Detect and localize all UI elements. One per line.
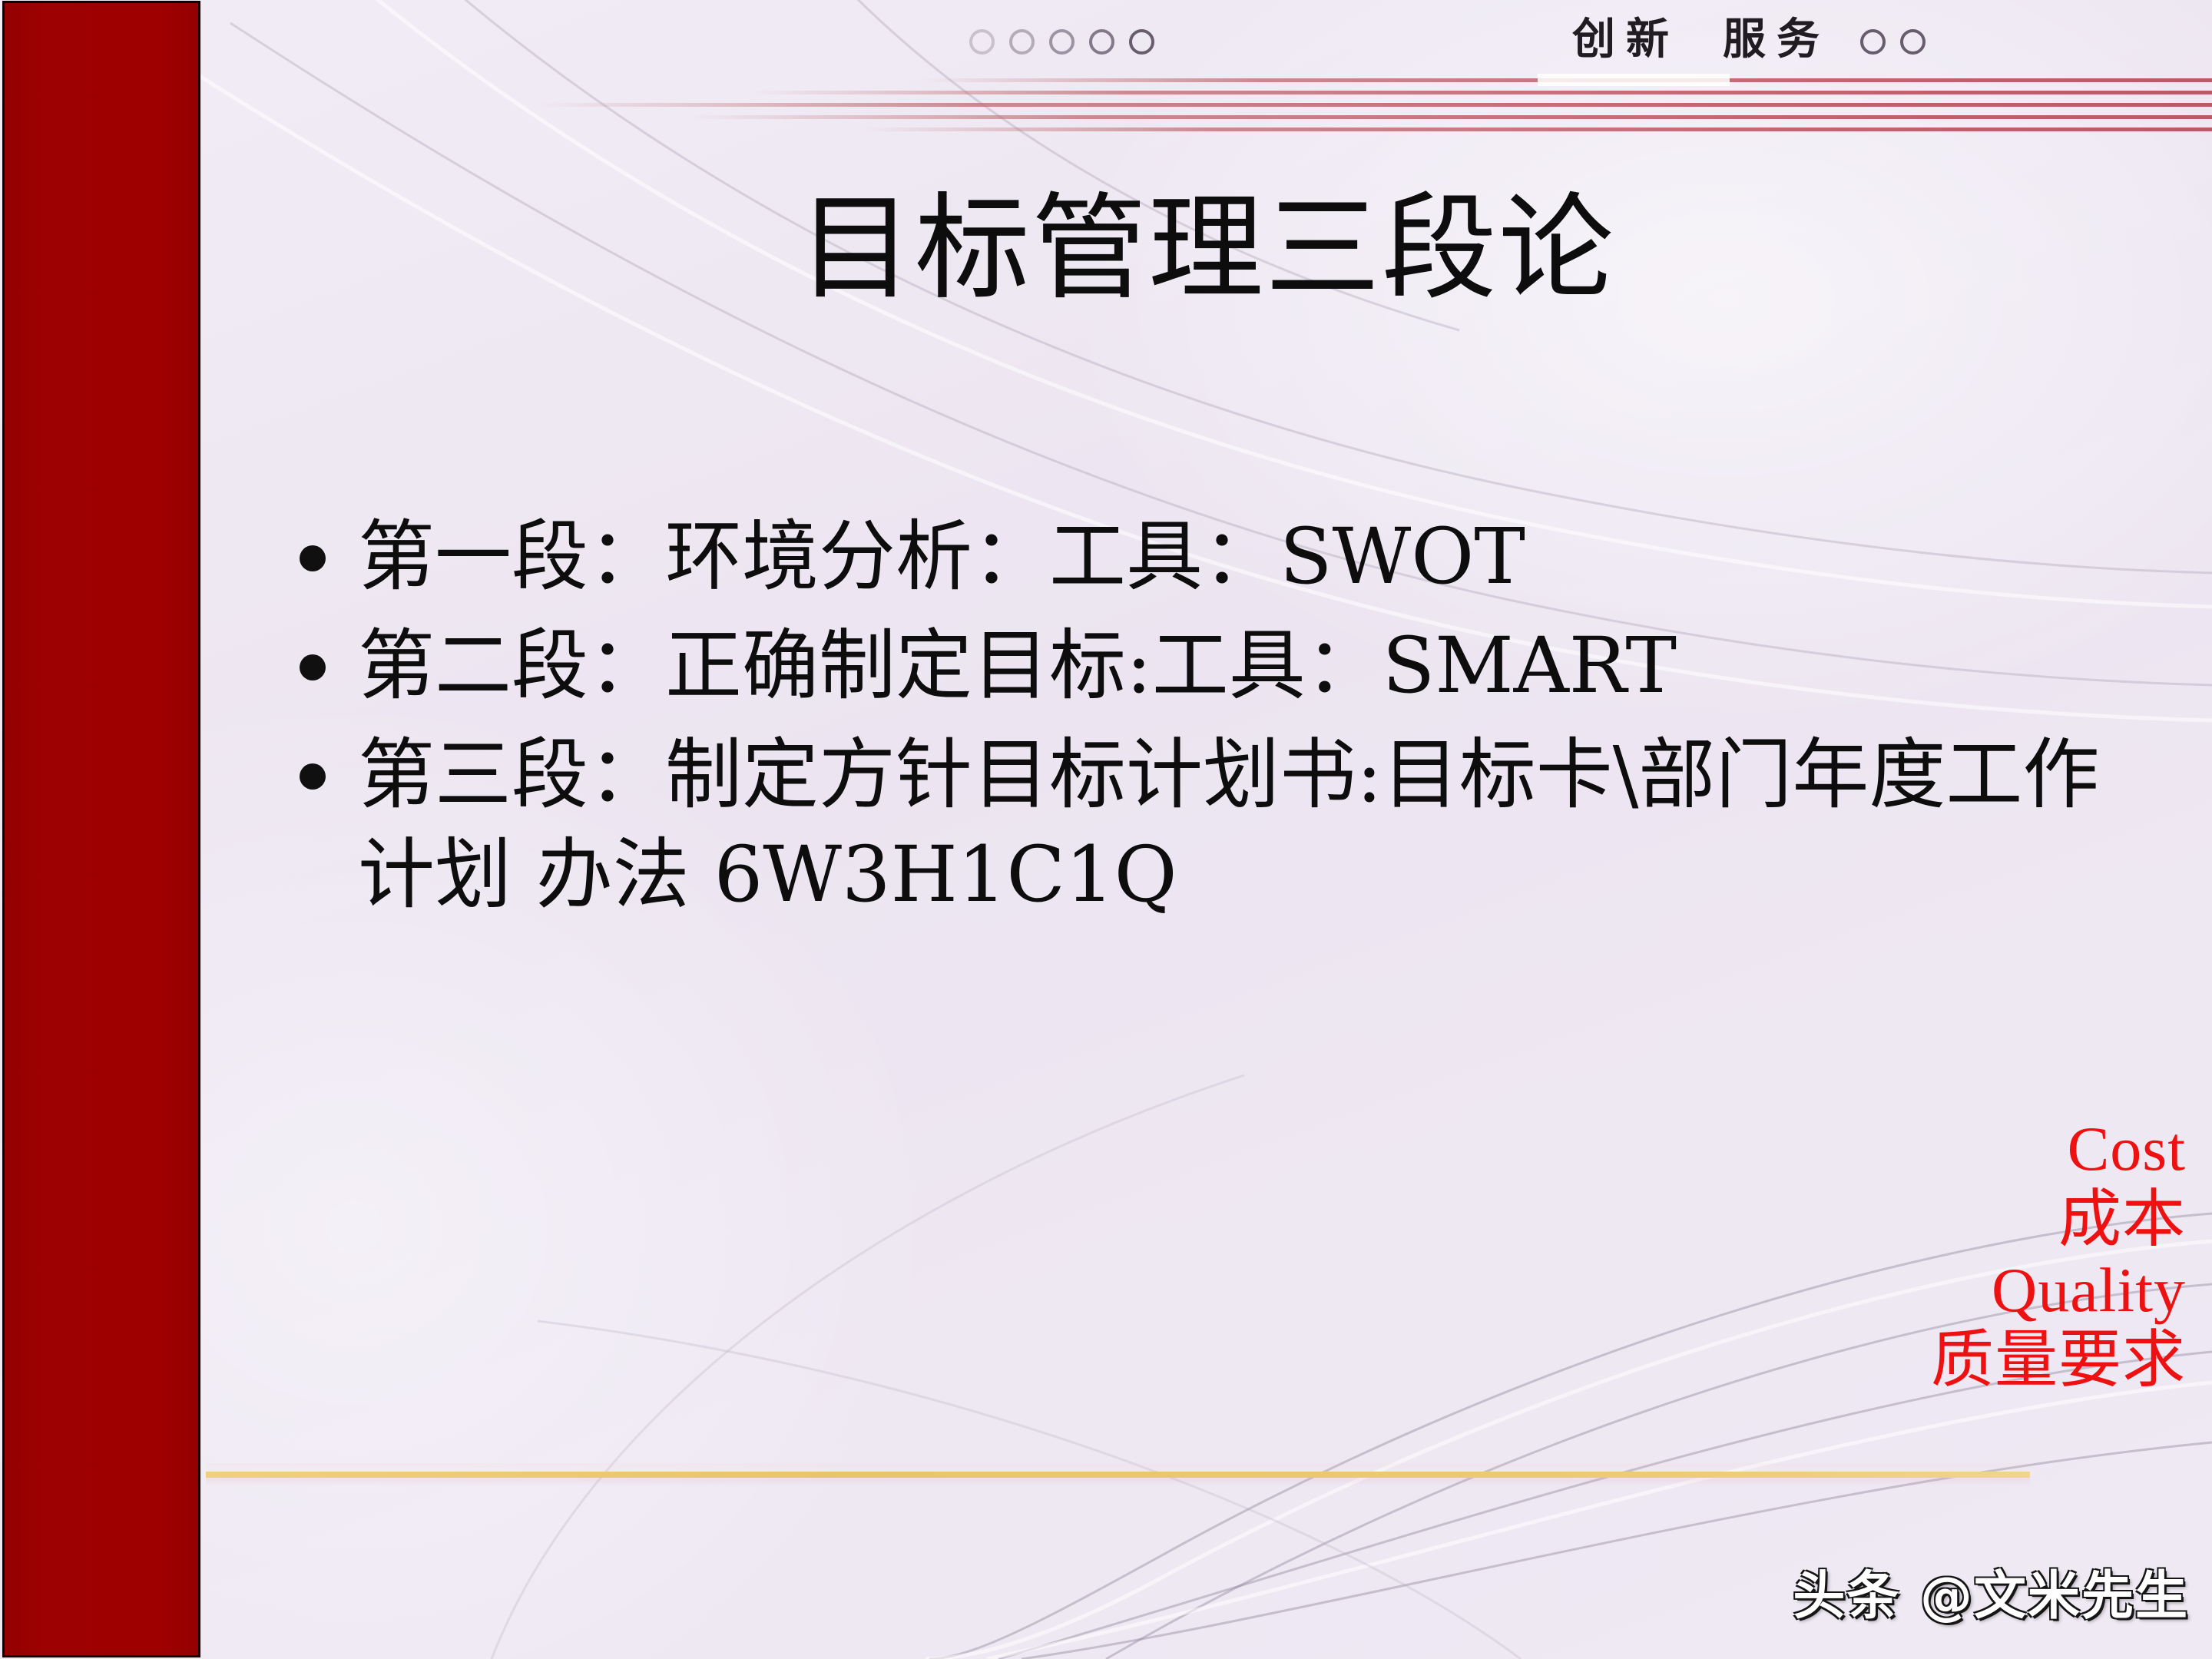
left-accent-bar: [2, 1, 200, 1657]
header-dots-left: [969, 29, 1154, 55]
callout-line-cost-cn: 成本: [1931, 1184, 2186, 1255]
header-dots-right: [1860, 29, 1926, 55]
header-brand-text: 创新 服务: [1572, 5, 1830, 67]
page-title: 目标管理三段论: [201, 189, 2212, 310]
list-item-label: 第三段：制定方针目标计划书:目标卡\部门年度工作计划 办法 6W3H1C1Q: [358, 725, 2128, 925]
slide-canvas: 创新 服务 目标管理三段论 第一段：环境分析：工具：SWOT 第二段：正确制定目…: [0, 0, 2212, 1659]
list-item-label: 第二段：正确制定目标:工具：SMART: [358, 616, 1677, 716]
cost-quality-callout: Cost 成本 Quality 质量要求: [1931, 1114, 2186, 1396]
circle-outline-icon: [1049, 29, 1075, 55]
stripe-line: [860, 127, 2212, 131]
header-stripe-lines: [201, 74, 2212, 140]
bullet-dot-icon: [300, 763, 326, 790]
circle-outline-icon: [1009, 29, 1035, 55]
list-item-label: 第一段：环境分析：工具：SWOT: [358, 507, 1525, 607]
brand-word-innovation: 创新: [1572, 5, 1680, 67]
callout-line-cost: Cost: [1931, 1114, 2186, 1184]
circle-outline-icon: [969, 29, 995, 55]
footer-divider: [206, 1472, 2030, 1478]
callout-line-quality-cn: 质量要求: [1931, 1325, 2186, 1396]
circle-outline-icon: [1089, 29, 1114, 55]
circle-outline-icon: [1129, 29, 1154, 55]
stripe-line: [753, 91, 2212, 94]
list-item: 第一段：环境分析：工具：SWOT: [300, 507, 2128, 607]
list-item: 第二段：正确制定目标:工具：SMART: [300, 616, 2128, 716]
watermark-text: 头条 @文米先生: [1793, 1553, 2189, 1629]
list-item: 第三段：制定方针目标计划书:目标卡\部门年度工作计划 办法 6W3H1C1Q: [300, 725, 2128, 925]
circle-outline-icon: [1900, 29, 1926, 55]
brand-word-service: 服务: [1723, 5, 1830, 67]
stripe-line: [691, 115, 2212, 119]
callout-line-quality: Quality: [1931, 1255, 2186, 1326]
circle-outline-icon: [1860, 29, 1886, 55]
stripe-highlight: [1538, 74, 1730, 86]
stripe-line: [538, 103, 2212, 107]
bullet-dot-icon: [300, 545, 326, 571]
header-band: 创新 服务: [201, 0, 2212, 146]
bullet-list: 第一段：环境分析：工具：SWOT 第二段：正确制定目标:工具：SMART 第三段…: [300, 507, 2128, 934]
bullet-dot-icon: [300, 654, 326, 680]
